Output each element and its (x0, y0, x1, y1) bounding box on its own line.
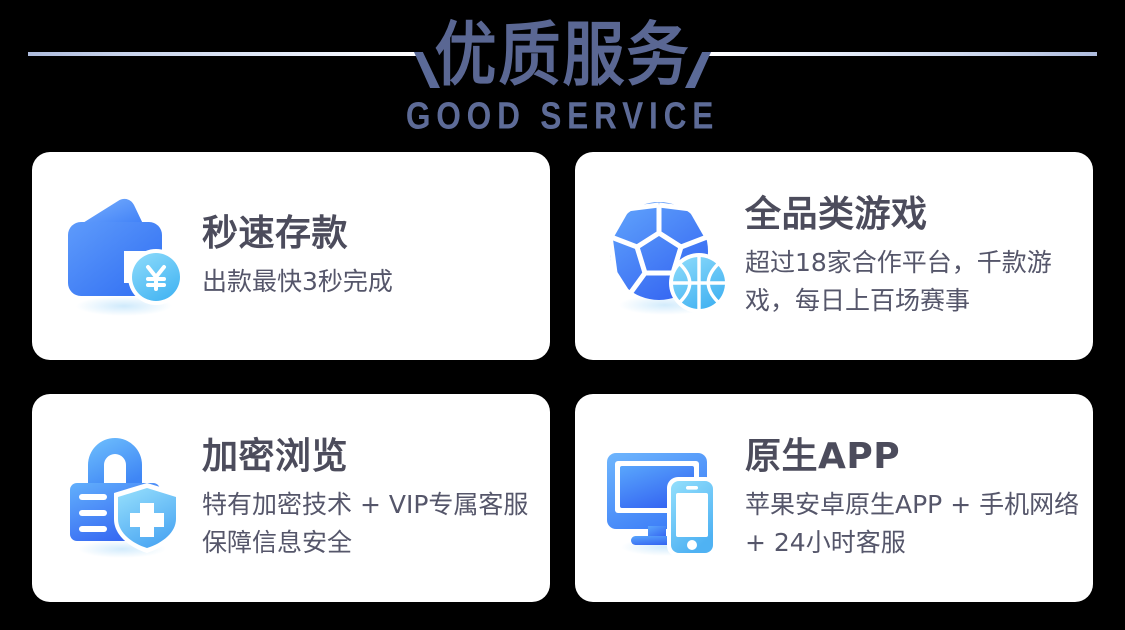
card-text-block: 全品类游戏 超过18家合作平台，千款游戏，每日上百场赛事 (745, 192, 1093, 320)
card-text-block: 原生APP 苹果安卓原生APP + 手机网络 + 24小时客服 (745, 434, 1093, 562)
title-block: 优质服务 GOOD SERVICE (0, 10, 1125, 134)
feature-card[interactable]: 原生APP 苹果安卓原生APP + 手机网络 + 24小时客服 (575, 394, 1093, 602)
page-header: 优质服务 GOOD SERVICE (0, 0, 1125, 145)
card-title: 秒速存款 (202, 211, 538, 257)
card-description: 苹果安卓原生APP + 手机网络 + 24小时客服 (745, 486, 1081, 562)
card-description: 超过18家合作平台，千款游戏，每日上百场赛事 (745, 244, 1081, 320)
feature-card-grid: 秒速存款 出款最快3秒完成 (32, 152, 1093, 602)
lock-shield-icon (58, 431, 192, 565)
card-title: 原生APP (745, 434, 1081, 480)
soccer-basketball-icon (601, 189, 735, 323)
feature-card[interactable]: 加密浏览 特有加密技术 + VIP专属客服保障信息安全 (32, 394, 550, 602)
card-text-block: 加密浏览 特有加密技术 + VIP专属客服保障信息安全 (202, 434, 550, 562)
feature-card[interactable]: 全品类游戏 超过18家合作平台，千款游戏，每日上百场赛事 (575, 152, 1093, 360)
card-title: 加密浏览 (202, 434, 538, 480)
card-description: 特有加密技术 + VIP专属客服保障信息安全 (202, 486, 538, 562)
card-title: 全品类游戏 (745, 192, 1081, 238)
card-text-block: 秒速存款 出款最快3秒完成 (202, 211, 550, 301)
feature-card[interactable]: 秒速存款 出款最快3秒完成 (32, 152, 550, 360)
card-description: 出款最快3秒完成 (202, 263, 538, 301)
page-subtitle: GOOD SERVICE (23, 95, 1103, 136)
page-title: 优质服务 (0, 10, 1125, 100)
wallet-icon (58, 189, 192, 323)
monitor-phone-icon (601, 431, 735, 565)
